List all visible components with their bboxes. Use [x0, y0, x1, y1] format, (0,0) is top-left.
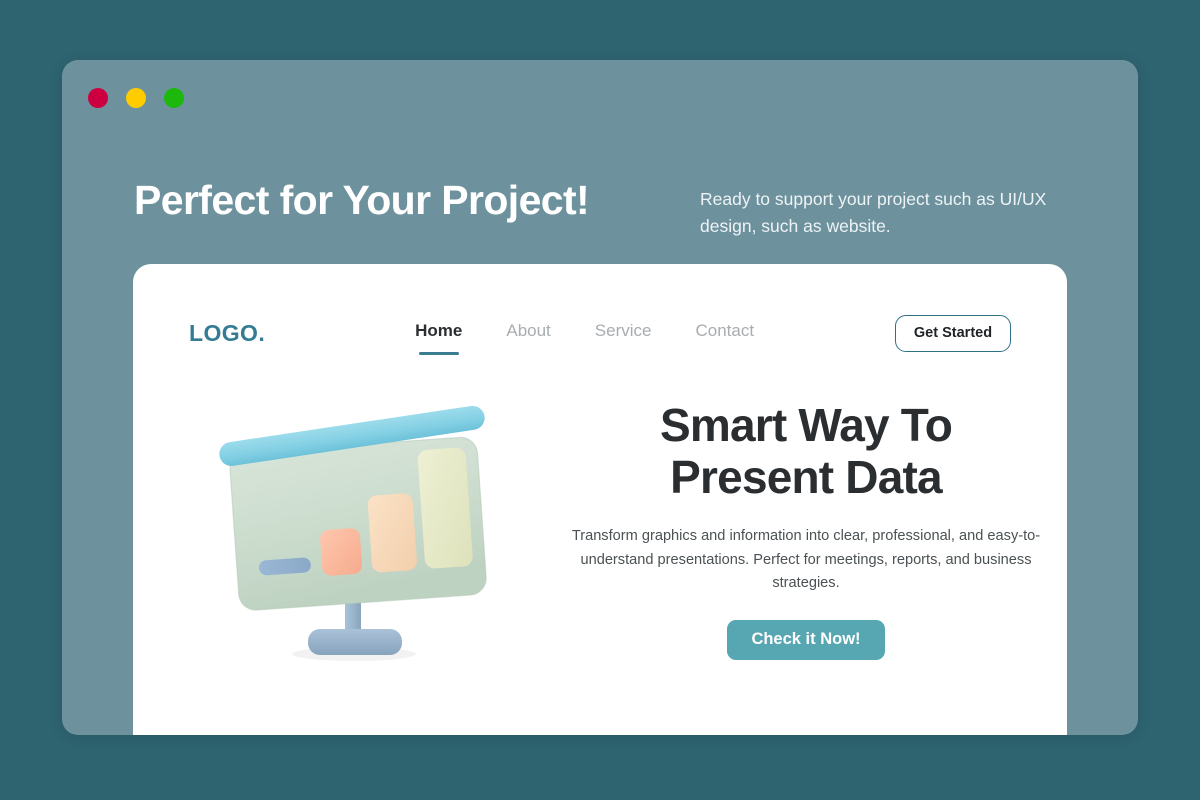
nav-item-home[interactable]: Home	[415, 321, 462, 345]
get-started-button[interactable]: Get Started	[895, 315, 1011, 352]
hero-section: Smart Way To Present Data Transform grap…	[133, 394, 1067, 667]
nav-item-contact[interactable]: Contact	[695, 321, 754, 345]
site-navbar: LOGO. Home About Service Contact Get Sta…	[133, 302, 1067, 364]
nav-item-service-label: Service	[595, 321, 652, 340]
board-bar-large	[417, 447, 473, 569]
browser-window: Perfect for Your Project! Ready to suppo…	[62, 60, 1138, 735]
nav-item-about-label: About	[506, 321, 550, 340]
nav-item-service[interactable]: Service	[595, 321, 652, 345]
hero-paragraph: Transform graphics and information into …	[571, 525, 1041, 596]
nav-links: Home About Service Contact	[415, 321, 754, 345]
hero-illustration	[159, 394, 559, 667]
nav-item-home-label: Home	[415, 321, 462, 340]
hero-title-line-2: Present Data	[670, 451, 942, 503]
board-stand-base	[308, 629, 402, 655]
nav-item-about[interactable]: About	[506, 321, 550, 345]
website-preview-card: LOGO. Home About Service Contact Get Sta…	[133, 264, 1067, 735]
active-nav-underline	[419, 352, 459, 355]
hero-copy: Smart Way To Present Data Transform grap…	[571, 394, 1041, 660]
check-it-now-button[interactable]: Check it Now!	[727, 620, 884, 660]
close-window-icon[interactable]	[88, 88, 108, 108]
minimize-window-icon[interactable]	[126, 88, 146, 108]
traffic-lights	[88, 88, 184, 108]
maximize-window-icon[interactable]	[164, 88, 184, 108]
promo-header: Perfect for Your Project! Ready to suppo…	[62, 178, 1138, 240]
presentation-board-3d-icon	[214, 402, 504, 667]
site-logo[interactable]: LOGO.	[189, 320, 265, 347]
presentation-board-svg	[214, 402, 504, 667]
board-bar-medium	[367, 493, 417, 573]
browser-titlebar	[62, 60, 1138, 138]
board-body-group	[216, 404, 498, 612]
nav-item-contact-label: Contact	[695, 321, 754, 340]
board-bar-small	[320, 528, 363, 577]
hero-title-line-1: Smart Way To	[660, 399, 952, 451]
promo-subtitle: Ready to support your project such as UI…	[700, 178, 1060, 240]
hero-title: Smart Way To Present Data	[571, 400, 1041, 503]
promo-title: Perfect for Your Project!	[134, 178, 694, 223]
